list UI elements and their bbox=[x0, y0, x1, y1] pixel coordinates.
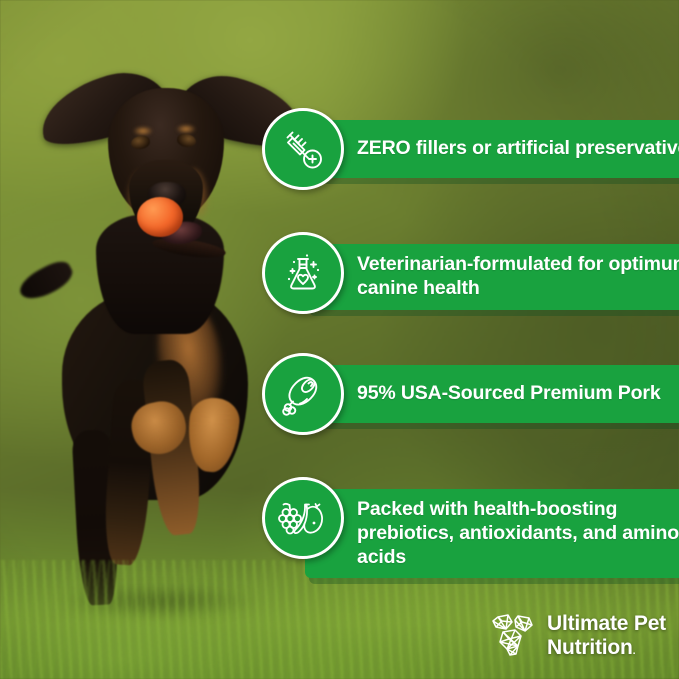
low-poly-dog-head-icon bbox=[487, 613, 537, 659]
benefit-bar: 95% USA-Sourced Premium Pork bbox=[305, 365, 679, 423]
benefit-badge-list: ZERO fillers or artificial preservatives bbox=[0, 0, 679, 679]
benefit-label: Packed with health-boosting prebiotics, … bbox=[357, 498, 679, 569]
registered-mark: . bbox=[633, 646, 636, 657]
benefit-label: 95% USA-Sourced Premium Pork bbox=[357, 382, 661, 406]
benefit-label: Veterinarian-formulated for optimum cani… bbox=[357, 253, 679, 301]
benefit-bar: ZERO fillers or artificial preservatives bbox=[305, 120, 679, 178]
brand-logo-line1: Ultimate Pet bbox=[547, 612, 666, 635]
ham-pork-leg-icon bbox=[262, 353, 344, 435]
benefit-bar: Packed with health-boosting prebiotics, … bbox=[305, 489, 679, 578]
brand-logo-line2: Nutrition. bbox=[547, 636, 666, 660]
brand-logo: Ultimate Pet Nutrition. bbox=[487, 612, 666, 659]
product-benefits-image: ZERO fillers or artificial preservatives bbox=[0, 0, 679, 679]
syringe-no-preservatives-icon bbox=[262, 108, 344, 190]
flask-heart-icon bbox=[262, 232, 344, 314]
fruits-grapes-banana-icon bbox=[262, 477, 344, 559]
brand-logo-text: Ultimate Pet Nutrition. bbox=[547, 612, 666, 659]
benefit-label: ZERO fillers or artificial preservatives bbox=[357, 137, 679, 161]
benefit-bar: Veterinarian-formulated for optimum cani… bbox=[305, 244, 679, 310]
